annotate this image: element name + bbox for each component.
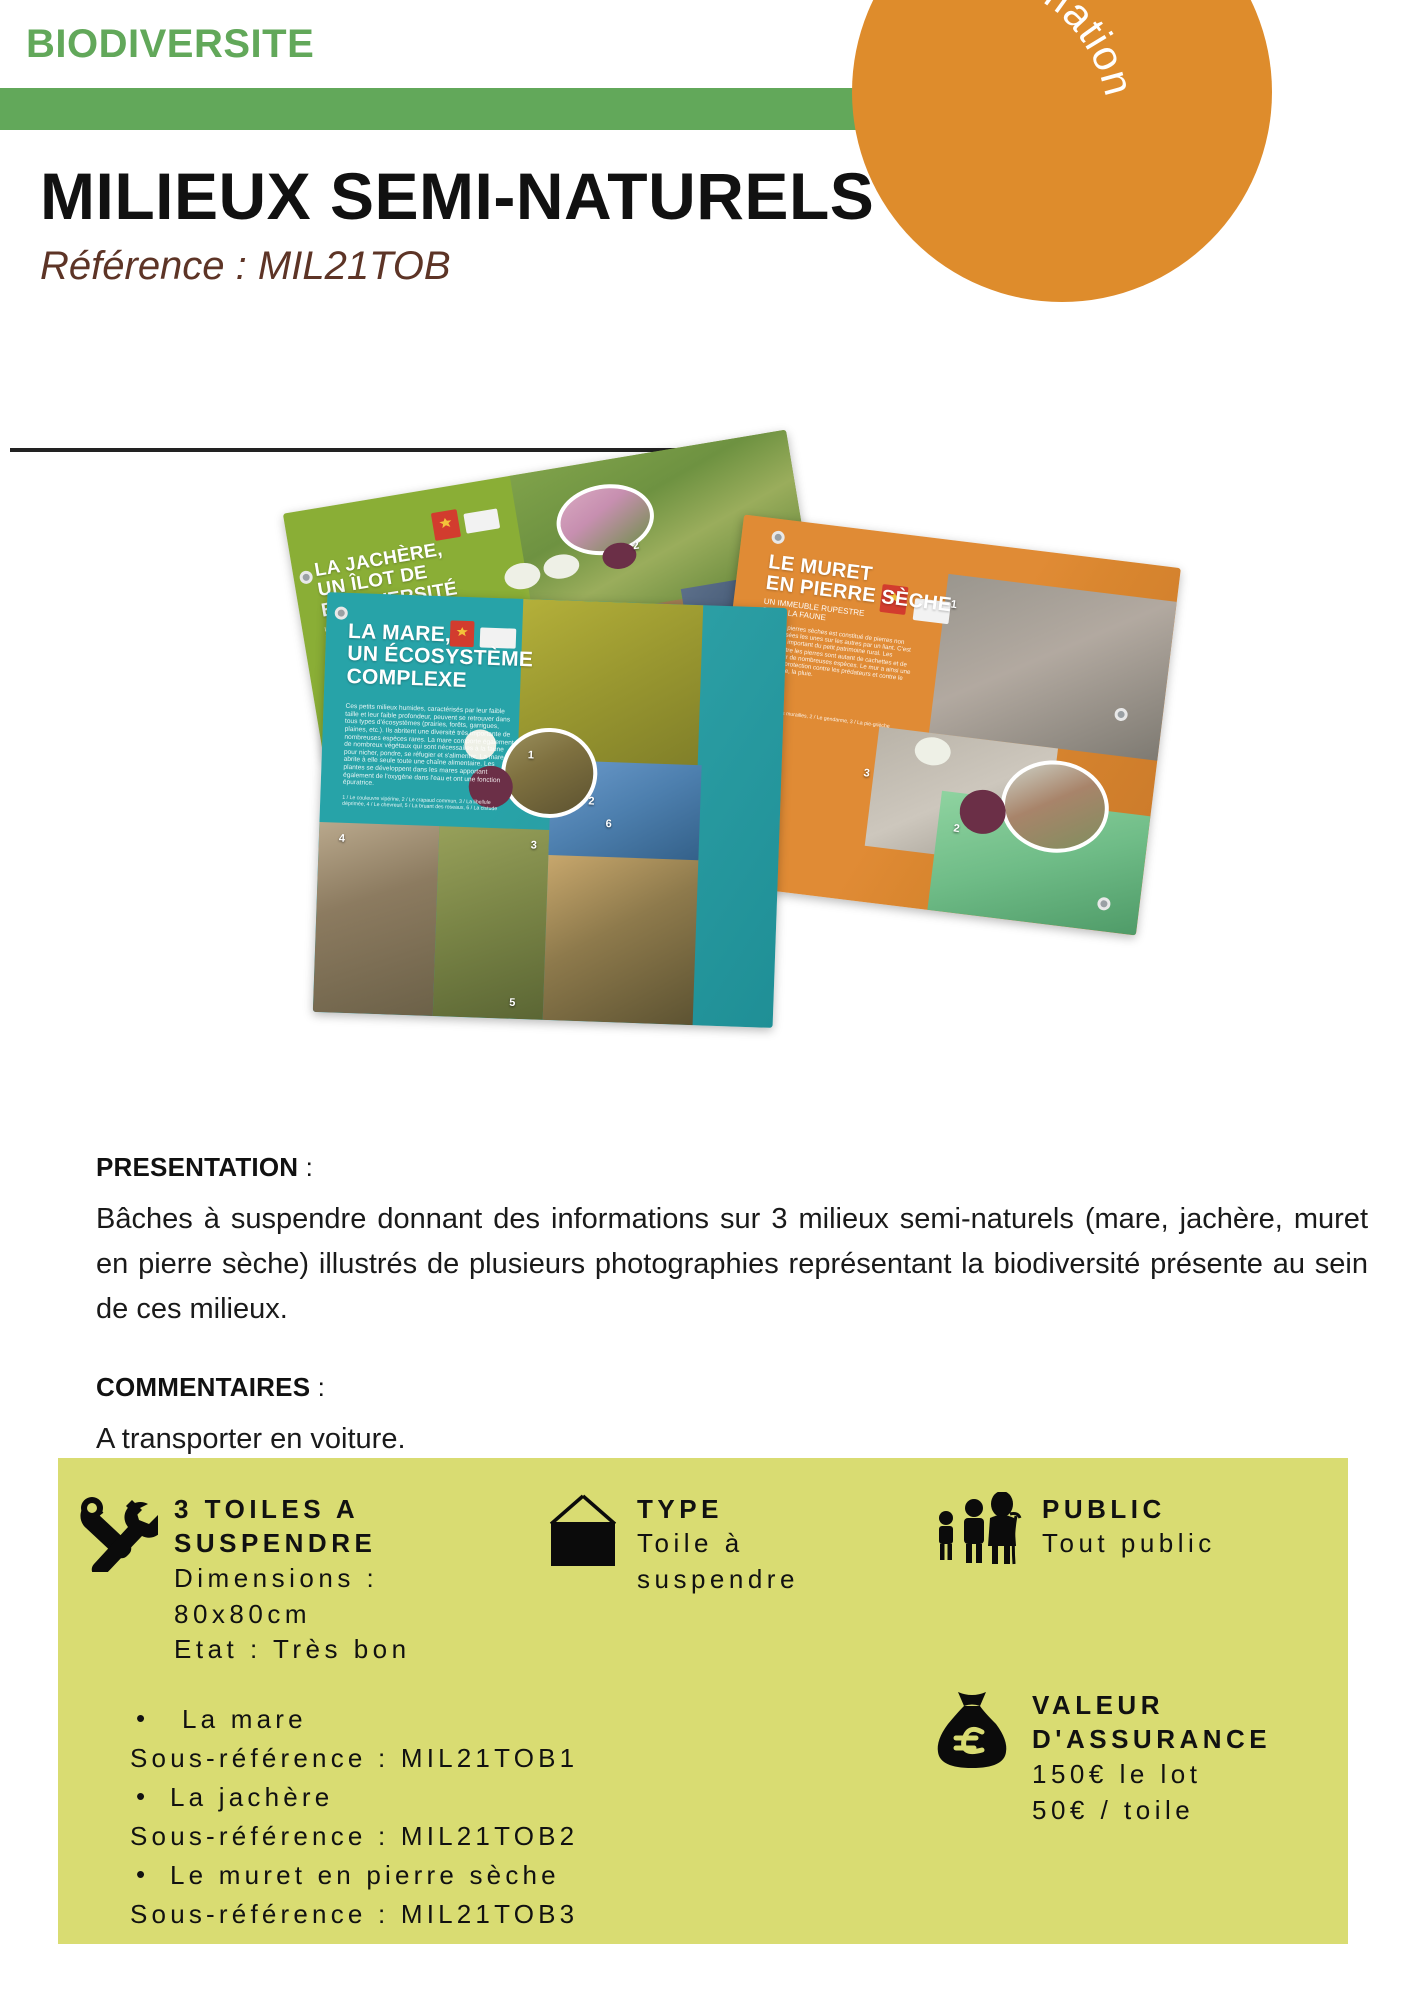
info-item-quantity: 3 TOILES A SUSPENDRE Dimensions : 80x80c… [72, 1492, 472, 1668]
title-divider [10, 448, 710, 452]
info-type-line-1: Toile à suspendre [637, 1526, 825, 1598]
photo-turtle [543, 850, 699, 1025]
information-badge: Information [852, 0, 1272, 302]
info-quantity-title: 3 TOILES A SUSPENDRE [174, 1492, 472, 1561]
information-badge-curved-text: Information [852, 0, 1272, 302]
list-item-subref: Sous-référence : MIL21TOB2 [130, 1817, 890, 1856]
photo-number-2c: 2 [588, 795, 595, 807]
info-quantity-line-1: Dimensions : 80x80cm [174, 1561, 472, 1633]
presentation-label: PRESENTATION : [96, 1152, 1368, 1183]
photo-bunting-bird [433, 826, 550, 1020]
photo-deer [313, 822, 440, 1016]
banner-body-mare: Ces petits milieux humides, caractérisés… [343, 703, 518, 793]
list-item-bullet: La mare [130, 1700, 890, 1739]
reference-label: Référence : MIL21TOB [40, 244, 900, 289]
info-value-line-1: 150€ le lot [1032, 1757, 1350, 1793]
sub-reference-list: La mare Sous-référence : MIL21TOB1 La ja… [130, 1700, 890, 1934]
photo-number-5: 5 [509, 997, 516, 1009]
list-item-bullet: Le muret en pierre sèche [130, 1856, 890, 1895]
presentation-text: Bâches à suspendre donnant des informati… [96, 1197, 1368, 1333]
info-public-title: PUBLIC [1042, 1492, 1330, 1526]
tools-icon [72, 1492, 158, 1577]
commentaires-label: COMMENTAIRES : [96, 1372, 1368, 1403]
grommet-icon-2 [771, 530, 785, 544]
commentaires-text: A transporter en voiture. [96, 1417, 1368, 1462]
info-public-line-1: Tout public [1042, 1526, 1330, 1562]
photo-number-3c: 3 [531, 839, 538, 851]
photo-number-4: 4 [339, 833, 346, 845]
banner-photo-mare: LA MARE, UN ÉCOSYSTÈME COMPLEXE Ces peti… [313, 592, 787, 1028]
list-item-subref: Sous-référence : MIL21TOB3 [130, 1895, 890, 1934]
info-value-title: VALEUR D'ASSURANCE [1032, 1688, 1350, 1757]
list-item-bullet: La jachère [130, 1778, 890, 1817]
grommet-icon [299, 570, 314, 585]
presentation-section: PRESENTATION : Bâches à suspendre donnan… [96, 1152, 1368, 1333]
logo-partner [463, 508, 500, 533]
photo-lizard [929, 574, 1177, 761]
title-block: MILIEUX SEMI-NATURELS Référence : MIL21T… [40, 160, 900, 289]
grommet-icon-5 [335, 606, 348, 619]
page-number: 28 [1310, 18, 1361, 72]
info-type-title: TYPE [637, 1492, 825, 1526]
hanging-banner-icon [545, 1492, 621, 1575]
banner-title-mare: LA MARE, UN ÉCOSYSTÈME COMPLEXE [346, 621, 534, 695]
commentaires-section: COMMENTAIRES : A transporter en voiture. [96, 1372, 1368, 1462]
info-value-line-2: 50€ / toile [1032, 1793, 1350, 1829]
list-item-subref: Sous-référence : MIL21TOB1 [130, 1739, 890, 1778]
money-bag-euro-icon [930, 1688, 1016, 1785]
information-badge-label: Information [943, 0, 1143, 101]
info-item-public: PUBLIC Tout public [930, 1492, 1330, 1573]
photo-number-6: 6 [605, 818, 612, 830]
info-quantity-line-2: Etat : Très bon [174, 1632, 472, 1668]
category-label: BIODIVERSITE [26, 22, 314, 67]
document-page: BIODIVERSITE Information 28 MILIEUX SEMI… [0, 0, 1414, 2000]
photo-number-3b: 3 [863, 767, 871, 780]
page-title: MILIEUX SEMI-NATURELS [40, 160, 900, 234]
info-item-type: TYPE Toile à suspendre [545, 1492, 825, 1598]
photo-number-1b: 1 [528, 749, 535, 761]
info-item-value: VALEUR D'ASSURANCE 150€ le lot 50€ / toi… [930, 1688, 1350, 1828]
logo-occitanie [431, 509, 461, 541]
people-group-icon [930, 1492, 1026, 1573]
product-photo-collage: LA JACHÈRE, UN ÎLOT DE BIODIVERSITÉ La j… [300, 470, 1180, 1150]
